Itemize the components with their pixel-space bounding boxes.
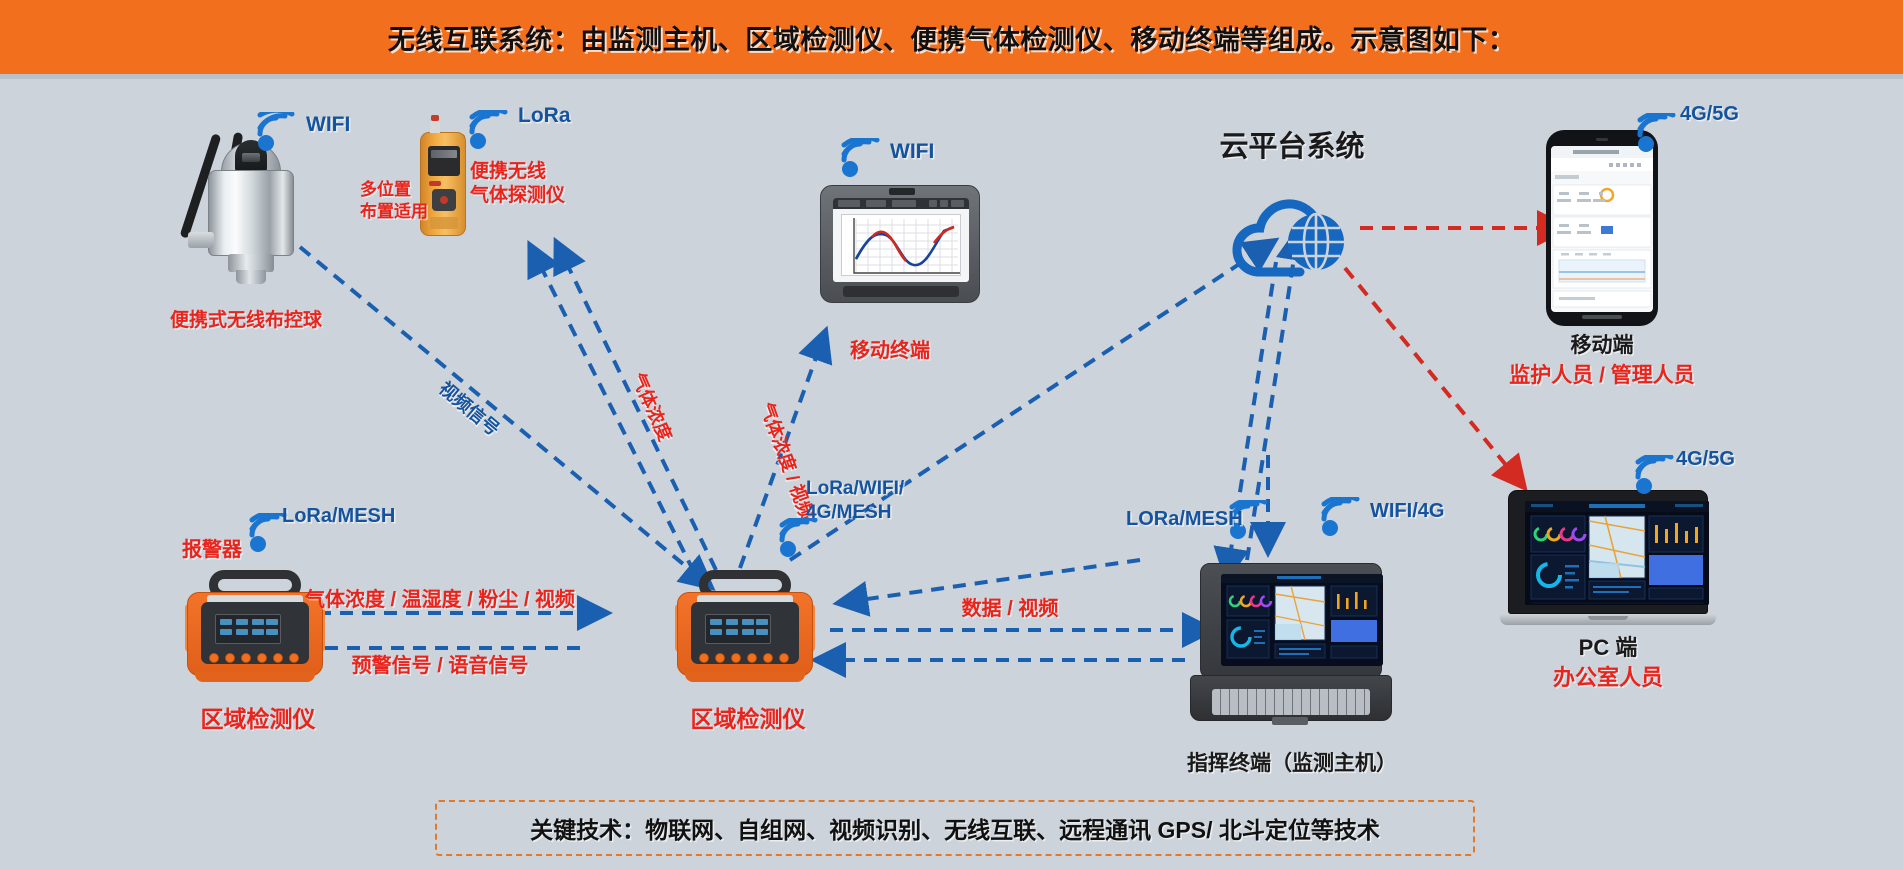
key-technologies-box: 关键技术：物联网、自组网、视频识别、无线互联、远程通讯 GPS/ 北斗定位等技术: [435, 800, 1475, 856]
laptop-lid: [1508, 490, 1708, 614]
laptop-screen: [1525, 501, 1709, 605]
area-detector-center-name-label: 区域检测仪: [691, 706, 806, 733]
detector-display-left: [215, 614, 281, 644]
diagram-canvas: 无线互联系统：由监测主机、区域检测仪、便携气体检测仪、移动终端等组成。示意图如下…: [0, 0, 1903, 870]
camera-body: [208, 170, 294, 256]
phone-signal-label: 4G/5G: [1680, 103, 1739, 127]
detector-sensor-head: [430, 120, 440, 133]
mobile-terminal-name-label: 移动终端: [850, 340, 930, 364]
signal-icon-pc: [1634, 455, 1678, 495]
detector-buttons-center[interactable]: [699, 652, 791, 666]
pc-client-role-label: 办公室人员: [1553, 665, 1663, 691]
gas-detector-name-line1: 便携无线: [470, 161, 546, 183]
header-banner: 无线互联系统：由监测主机、区域检测仪、便携气体检测仪、移动终端等组成。示意图如下…: [0, 0, 1903, 74]
cloud-platform-title: 云平台系统: [1219, 130, 1364, 164]
phone-body: [1546, 130, 1658, 326]
pc-client-name-label: PC 端: [1579, 635, 1638, 661]
link-label-gas-concentration: 气体浓度: [627, 370, 676, 444]
detector-display-center: [705, 614, 771, 644]
command-signal-right-label: WIFI/4G: [1370, 500, 1444, 524]
tablet-signal-label: WIFI: [890, 140, 934, 165]
signal-icon-phone: [1636, 113, 1680, 153]
detector-foot-left: [195, 672, 315, 682]
phone-speaker-icon: [1596, 138, 1608, 141]
camera-base-bottom: [236, 270, 266, 284]
detector-keypad: [432, 189, 456, 211]
detector-screen: [428, 146, 460, 176]
pc-signal-label: 4G/5G: [1676, 448, 1735, 472]
link-label-left-uplink: 气体浓度 / 温湿度 / 粉尘 / 视频: [305, 589, 575, 613]
phone-home-indicator: [1582, 315, 1622, 319]
tablet-screen: [833, 198, 969, 282]
phone-screen: [1551, 146, 1653, 312]
area-detector-left-name-label: 区域检测仪: [201, 706, 316, 733]
camera-name-label: 便携式无线布控球: [170, 310, 322, 332]
banner-title: 无线互联系统：由监测主机、区域检测仪、便携气体检测仪、移动终端等组成。示意图如下…: [388, 18, 1516, 57]
detector-grill: [430, 217, 458, 229]
pc-client-laptop[interactable]: [1500, 490, 1716, 630]
alarm-name-label: 报警器: [182, 539, 242, 563]
camera-connector: [188, 232, 214, 248]
link-label-protocol-line1: LoRa/WIFI/: [806, 478, 904, 500]
key-technologies-text: 关键技术：物联网、自组网、视频识别、无线互联、远程通讯 GPS/ 北斗定位等技术: [530, 811, 1380, 845]
mobile-terminal-tablet[interactable]: [820, 185, 990, 307]
rugged-laptop-screen: [1221, 574, 1383, 666]
wifi-icon-camera: [256, 112, 300, 152]
rugged-laptop-keyboard[interactable]: [1212, 689, 1370, 715]
area-detector-center[interactable]: [675, 570, 817, 686]
wifi-icon-gas-detector: [468, 110, 512, 150]
mobile-client-name-label: 移动端: [1571, 334, 1634, 359]
wifi-icon-area-detector-center: [778, 518, 822, 558]
tablet-chart: [841, 214, 961, 276]
detector-foot-center: [685, 672, 805, 682]
mobile-client-role-label: 监护人员 / 管理人员: [1509, 364, 1695, 389]
camera-signal-label: WIFI: [306, 113, 350, 138]
tablet-shell: [820, 185, 980, 303]
mobile-client-phone[interactable]: [1546, 130, 1658, 326]
gas-detector-name-line2: 气体探测仪: [470, 185, 565, 207]
cloud-globe-icon: [1228, 180, 1364, 288]
portable-wireless-camera-ball[interactable]: [170, 120, 340, 290]
gas-detector-note-line2: 布置适用: [360, 202, 428, 222]
banner-underline: [0, 74, 1903, 79]
gas-detector-note-line1: 多位置: [360, 180, 411, 200]
rugged-laptop-touchpad[interactable]: [1272, 717, 1308, 725]
command-signal-left-label: LORa/MESH: [1126, 508, 1243, 532]
command-terminal-laptop[interactable]: [1190, 563, 1392, 728]
link-label-left-downlink: 预警信号 / 语音信号: [352, 655, 529, 679]
detector-red-button-icon: [429, 181, 441, 186]
wifi-icon-tablet: [840, 138, 884, 178]
tablet-statusbar: [833, 198, 969, 209]
detector-buttons-left[interactable]: [209, 652, 301, 666]
laptop-notch: [1588, 616, 1628, 620]
rugged-laptop-lid: [1200, 563, 1382, 679]
signal-icon-command-right: [1320, 497, 1364, 537]
tablet-port-strip: [843, 286, 959, 297]
area-detector-left[interactable]: [185, 570, 327, 686]
link-label-camera-video: 视频信号: [434, 378, 503, 441]
command-terminal-name-label: 指挥终端（监测主机）: [1187, 752, 1397, 777]
link-label-data-video: 数据 / 视频: [962, 598, 1059, 622]
tablet-camera-icon: [889, 188, 915, 195]
gas-detector-signal-label: LoRa: [518, 104, 571, 129]
alarm-signal-label: LoRa/MESH: [282, 505, 395, 529]
